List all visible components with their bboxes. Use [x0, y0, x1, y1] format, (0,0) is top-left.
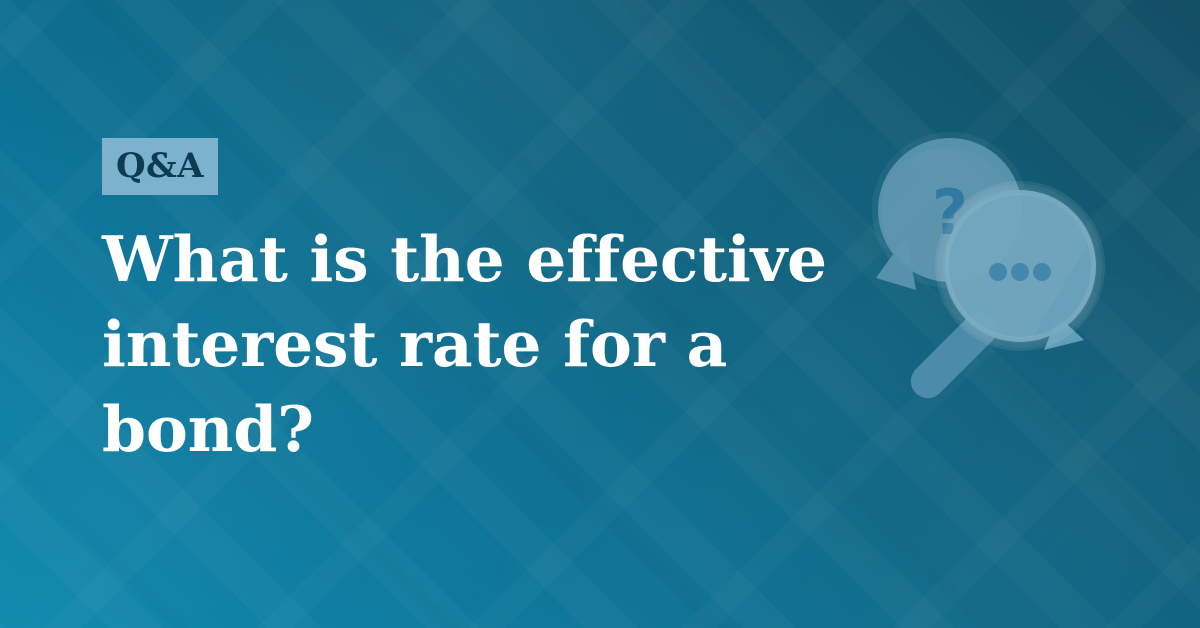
- card-content: Q&A What is the effective interest rate …: [102, 138, 882, 472]
- qa-badge: Q&A: [102, 138, 218, 195]
- page-title: What is the effective interest rate for …: [102, 217, 862, 472]
- question-search-illustration: ? ...: [862, 124, 1124, 400]
- qa-question-card: ? ...: [0, 0, 1200, 628]
- magnifying-glass-lens: [942, 188, 1098, 344]
